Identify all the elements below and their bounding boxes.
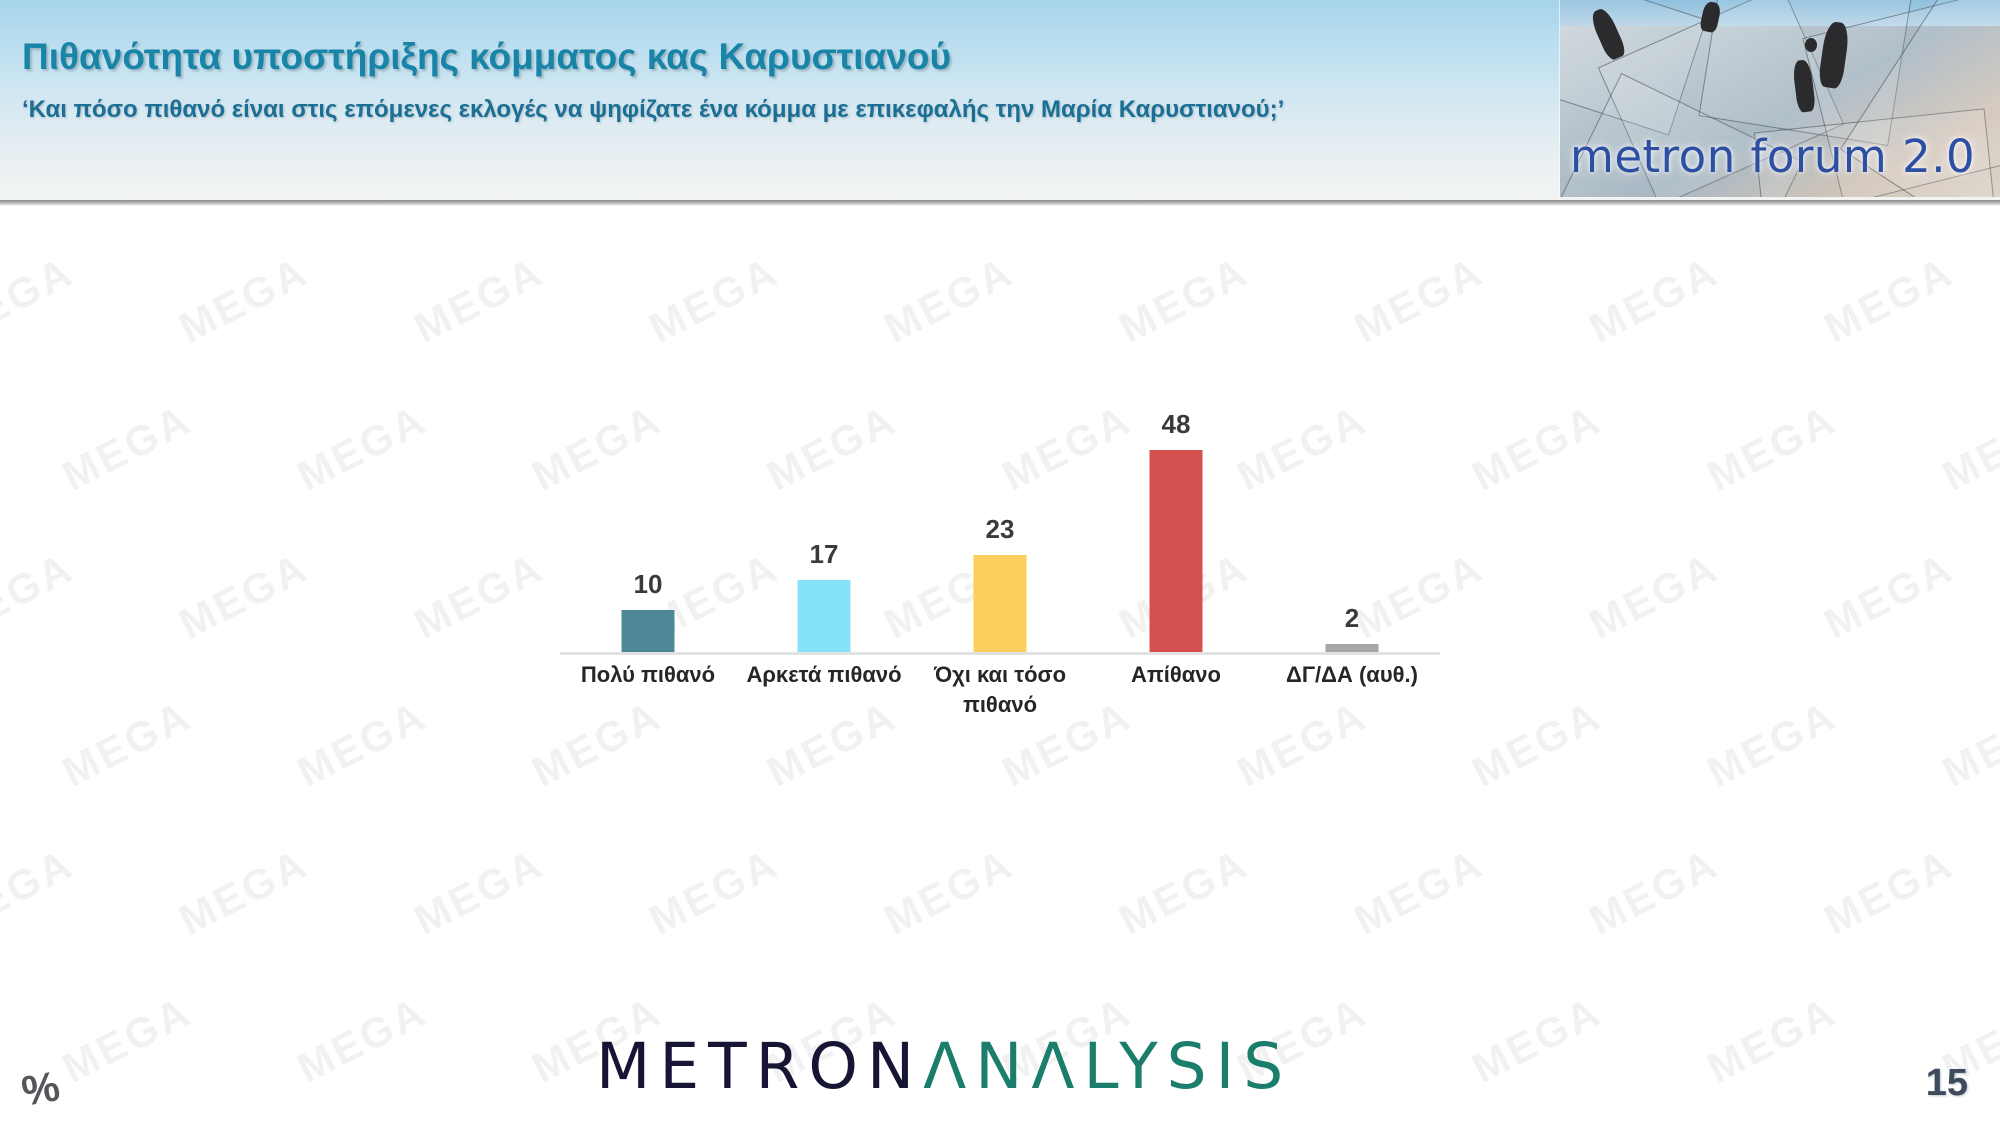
watermark-text: MEGA — [1935, 691, 2000, 796]
bar — [622, 610, 675, 652]
watermark-text: MEGA — [1582, 839, 1727, 944]
logo-analysis-text: ΛNΛLYSIS — [923, 1030, 1292, 1103]
figure-silhouette — [1805, 38, 1817, 52]
watermark-text: MEGA — [407, 543, 552, 648]
watermark-text: MEGA — [290, 691, 435, 796]
watermark-text: MEGA — [172, 543, 317, 648]
page-number: 15 — [1926, 1062, 1968, 1105]
bar-column: 17 — [736, 420, 912, 652]
watermark-text: MEGA — [1582, 247, 1727, 352]
watermark-text: MEGA — [877, 839, 1022, 944]
bar — [1326, 644, 1379, 652]
bar-value-label: 48 — [1162, 409, 1191, 440]
metron-forum-caption: metron forum 2.0 — [1570, 130, 1975, 183]
watermark-text: MEGA — [877, 247, 1022, 352]
category-label: Πολύ πιθανό — [560, 660, 736, 690]
watermark-text: MEGA — [1700, 987, 1845, 1092]
watermark-text: MEGA — [1465, 395, 1610, 500]
watermark-text: MEGA — [1700, 691, 1845, 796]
category-label: ΔΓ/ΔΑ (αυθ.) — [1264, 660, 1440, 690]
watermark-text: MEGA — [642, 839, 787, 944]
metron-analysis-logo: METRONΛNΛLYSIS — [596, 1030, 1292, 1103]
watermark-text: MEGA — [0, 247, 81, 352]
watermark-text: MEGA — [1112, 839, 1257, 944]
bar-column: 48 — [1088, 420, 1264, 652]
watermark-text: MEGA — [0, 839, 81, 944]
watermark-text: MEGA — [172, 839, 317, 944]
watermark-text: MEGA — [55, 395, 200, 500]
logo-metron-text: METRON — [596, 1030, 923, 1103]
bar-value-label: 10 — [634, 569, 663, 600]
watermark-text: MEGA — [290, 395, 435, 500]
watermark-text: MEGA — [1347, 247, 1492, 352]
watermark-text: MEGA — [1582, 543, 1727, 648]
bar — [1150, 450, 1203, 652]
watermark-text: MEGA — [1112, 247, 1257, 352]
watermark-text: MEGA — [642, 247, 787, 352]
watermark-text: MEGA — [1347, 839, 1492, 944]
header-divider — [0, 200, 2000, 206]
category-label: Όχι και τόσο πιθανό — [912, 660, 1088, 720]
category-label: Αρκετά πιθανό — [736, 660, 912, 690]
bar-column: 23 — [912, 420, 1088, 652]
watermark-text: MEGA — [1935, 395, 2000, 500]
watermark-text: MEGA — [1817, 839, 1962, 944]
slide: MEGAMEGAMEGAMEGAMEGAMEGAMEGAMEGAMEGAMEGA… — [0, 0, 2000, 1125]
bar — [798, 580, 851, 652]
watermark-text: MEGA — [55, 691, 200, 796]
chart-plot-area: 101723482 — [560, 420, 1440, 655]
watermark-text: MEGA — [290, 987, 435, 1092]
bar-column: 10 — [560, 420, 736, 652]
bar — [974, 555, 1027, 652]
bar-chart: 101723482 Πολύ πιθανόΑρκετά πιθανόΌχι κα… — [560, 420, 1440, 740]
bar-value-label: 2 — [1345, 603, 1359, 634]
page-title: Πιθανότητα υποστήριξης κόμματος κας Καρυ… — [22, 36, 951, 78]
watermark-text: MEGA — [1700, 395, 1845, 500]
bar-value-label: 23 — [986, 514, 1015, 545]
watermark-text: MEGA — [1465, 691, 1610, 796]
watermark-text: MEGA — [407, 839, 552, 944]
watermark-text: MEGA — [1465, 987, 1610, 1092]
watermark-text: MEGA — [55, 987, 200, 1092]
page-subtitle: ‘Και πόσο πιθανό είναι στις επόμενες εκλ… — [22, 93, 1422, 127]
bar-column: 2 — [1264, 420, 1440, 652]
watermark-text: MEGA — [1817, 247, 1962, 352]
watermark-text: MEGA — [0, 543, 81, 648]
watermark-text: MEGA — [407, 247, 552, 352]
metron-forum-logo-image: metron forum 2.0 — [1560, 0, 2000, 197]
watermark-text: MEGA — [1817, 543, 1962, 648]
x-axis-line — [560, 652, 1440, 655]
watermark-text: MEGA — [172, 247, 317, 352]
percent-symbol: % — [18, 1062, 63, 1116]
bar-value-label: 17 — [810, 539, 839, 570]
category-label: Απίθανο — [1088, 660, 1264, 690]
